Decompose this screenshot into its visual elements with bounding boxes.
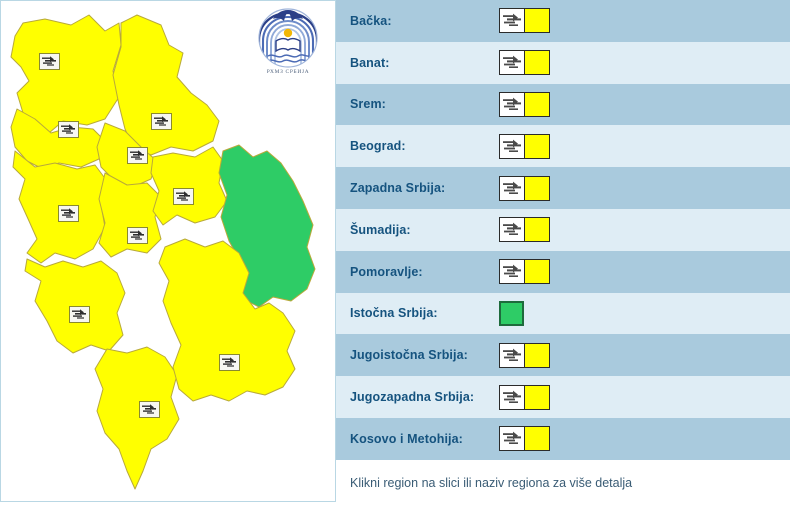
map-pin-jugoistocna-srbija[interactable] <box>219 354 240 371</box>
wind-icon-box <box>499 92 524 117</box>
severity-badges <box>499 259 550 284</box>
map-panel: РХМЗ СРБИЈА <box>0 0 336 502</box>
map-region-pomoravlje <box>151 147 227 225</box>
region-row-sumadija[interactable]: Šumadija: <box>336 209 790 251</box>
wind-icon-box <box>499 259 524 284</box>
region-label: Banat: <box>350 56 495 70</box>
wind-icon-box <box>499 426 524 451</box>
map-pin-banat[interactable] <box>151 113 172 130</box>
region-row-istocna-srbija[interactable]: Istočna Srbija: <box>336 293 790 335</box>
region-label: Zapadna Srbija: <box>350 181 495 195</box>
wind-icon <box>502 54 523 71</box>
severity-badges <box>499 176 550 201</box>
map-region-kosovo-i-metohija <box>95 347 179 489</box>
rhmz-logo-text: РХМЗ СРБИЈА <box>267 69 310 75</box>
wind-icon <box>502 347 523 364</box>
region-row-jugozapadna-srbija[interactable]: Jugozapadna Srbija: <box>336 376 790 418</box>
severity-color-swatch <box>524 426 550 451</box>
region-label: Istočna Srbija: <box>350 306 495 320</box>
wind-icon <box>502 389 523 406</box>
map-pin-srem[interactable] <box>58 121 79 138</box>
wind-icon <box>129 149 146 162</box>
wind-icon <box>175 190 192 203</box>
region-list: Bačka: Banat: <box>336 0 790 506</box>
severity-badges <box>499 134 550 159</box>
severity-color-swatch <box>524 8 550 33</box>
region-row-pomoravlje[interactable]: Pomoravlje: <box>336 251 790 293</box>
severity-badges <box>499 343 550 368</box>
region-row-beograd[interactable]: Beograd: <box>336 125 790 167</box>
region-row-zapadna-srbija[interactable]: Zapadna Srbija: <box>336 167 790 209</box>
region-row-backa[interactable]: Bačka: <box>336 0 790 42</box>
wind-icon <box>41 55 58 68</box>
severity-badges <box>499 385 550 410</box>
wind-icon-box <box>499 176 524 201</box>
wind-icon-box <box>499 385 524 410</box>
wind-icon-box <box>499 50 524 75</box>
severity-color-swatch <box>524 176 550 201</box>
wind-icon <box>71 308 88 321</box>
region-label: Srem: <box>350 97 495 111</box>
region-row-srem[interactable]: Srem: <box>336 84 790 126</box>
severity-badges <box>499 92 550 117</box>
region-label: Beograd: <box>350 139 495 153</box>
region-label: Šumadija: <box>350 223 495 237</box>
region-row-kosovo-i-metohija[interactable]: Kosovo i Metohija: <box>336 418 790 460</box>
wind-icon <box>141 403 158 416</box>
severity-color-swatch <box>524 134 550 159</box>
wind-icon <box>129 229 146 242</box>
wind-icon <box>502 180 523 197</box>
region-label: Kosovo i Metohija: <box>350 432 495 446</box>
wind-icon-box <box>499 134 524 159</box>
map-pin-jugozapadna-srbija[interactable] <box>69 306 90 323</box>
wind-icon-box <box>499 8 524 33</box>
wind-icon <box>502 138 523 155</box>
severity-color-swatch <box>524 259 550 284</box>
severity-color-swatch <box>499 301 524 326</box>
wind-icon <box>221 356 238 369</box>
severity-badges <box>499 50 550 75</box>
rhmz-logo-icon: РХМЗ СРБИЈА <box>254 7 322 77</box>
map-region-sumadija <box>99 173 161 257</box>
severity-badges <box>499 8 550 33</box>
severity-color-swatch <box>524 92 550 117</box>
wind-icon <box>60 123 77 136</box>
map-pin-beograd[interactable] <box>127 147 148 164</box>
wind-icon <box>60 207 77 220</box>
region-row-banat[interactable]: Banat: <box>336 42 790 84</box>
wind-icon-box <box>499 217 524 242</box>
map-pin-zapadna-srbija[interactable] <box>58 205 79 222</box>
severity-badges <box>499 301 524 326</box>
map-pin-pomoravlje[interactable] <box>173 188 194 205</box>
wind-icon <box>153 115 170 128</box>
wind-icon <box>502 221 523 238</box>
region-list-panel: Bačka: Banat: <box>336 0 790 502</box>
wind-icon <box>502 263 523 280</box>
wind-icon <box>502 12 523 29</box>
severity-color-swatch <box>524 50 550 75</box>
severity-color-swatch <box>524 343 550 368</box>
map-pin-backa[interactable] <box>39 53 60 70</box>
map-pin-sumadija[interactable] <box>127 227 148 244</box>
map-region-banat <box>113 15 219 155</box>
wind-icon <box>502 430 523 447</box>
region-label: Jugoistočna Srbija: <box>350 348 495 362</box>
region-row-jugoistocna-srbija[interactable]: Jugoistočna Srbija: <box>336 334 790 376</box>
wind-icon-box <box>499 343 524 368</box>
wind-icon <box>502 96 523 113</box>
severity-badges <box>499 217 550 242</box>
rhmz-logo: РХМЗ СРБИЈА <box>254 7 322 77</box>
meteoalarm-page: РХМЗ СРБИЈА Bačka: Banat: <box>0 0 790 502</box>
region-label: Pomoravlje: <box>350 265 495 279</box>
severity-color-swatch <box>524 385 550 410</box>
severity-badges <box>499 426 550 451</box>
map-pin-kosovo-i-metohija[interactable] <box>139 401 160 418</box>
region-label: Jugozapadna Srbija: <box>350 390 495 404</box>
region-label: Bačka: <box>350 14 495 28</box>
severity-color-swatch <box>524 217 550 242</box>
list-footnote: Klikni region na slici ili naziv regiona… <box>336 460 790 506</box>
